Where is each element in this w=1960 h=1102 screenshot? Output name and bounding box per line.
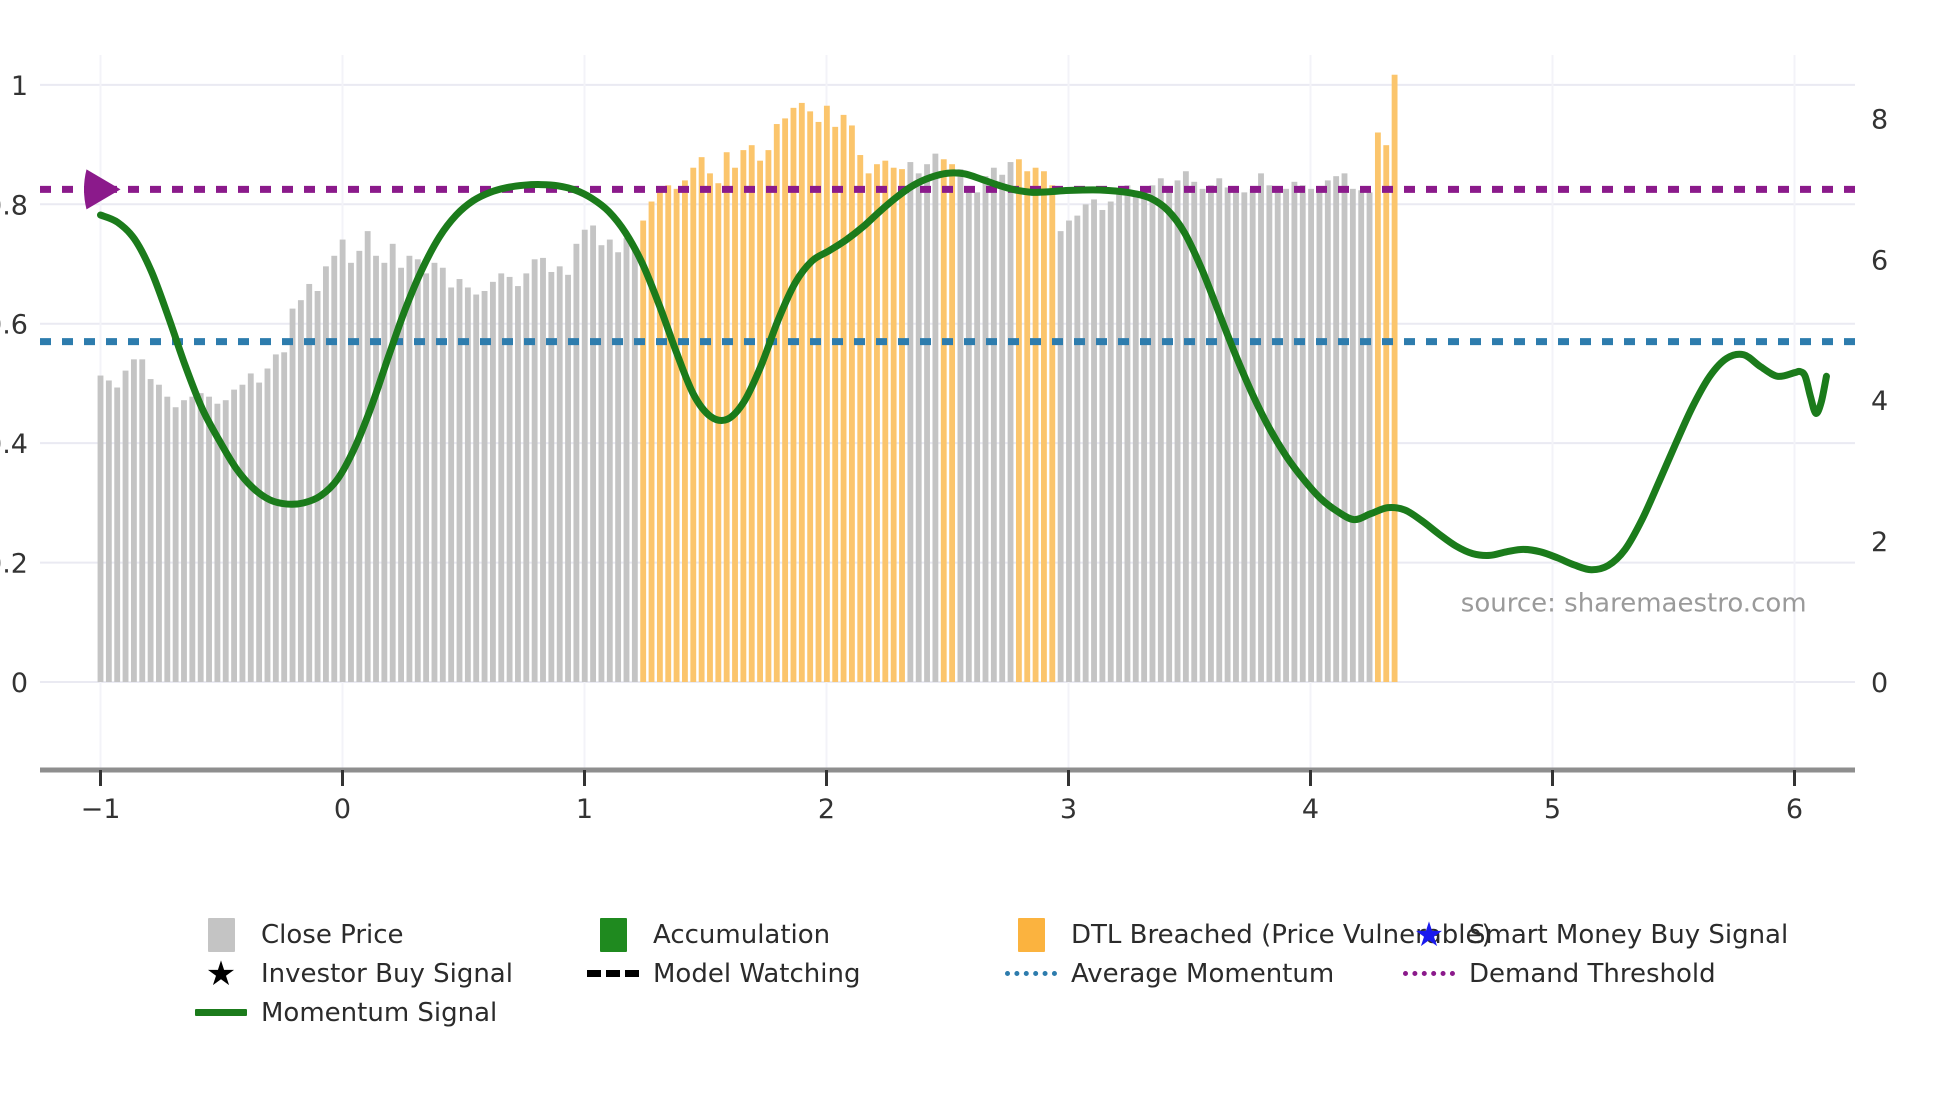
dtl-breached-bar (757, 161, 763, 682)
close-price-bar (290, 309, 296, 682)
close-price-bar (624, 238, 630, 682)
dtl-breached-bar (765, 150, 771, 682)
dtl-breached-bar (699, 157, 705, 682)
legend-item[interactable]: ★Investor Buy Signal (190, 954, 513, 993)
close-price-bar (1133, 196, 1139, 682)
chart-legend: Close PriceAccumulationDTL Breached (Pri… (0, 915, 1960, 1095)
close-price-bar (323, 266, 329, 682)
swatch-star: ★ (1414, 918, 1444, 952)
close-price-bar (156, 385, 162, 682)
close-price-bar (1300, 185, 1306, 682)
y-right-tick-label: 0 (1871, 668, 1888, 699)
close-price-bar (1083, 204, 1089, 682)
legend-label: Accumulation (644, 920, 830, 950)
dtl-breached-bar (891, 168, 897, 682)
close-price-bar (1074, 216, 1080, 682)
legend-item[interactable]: ★Smart Money Buy Signal (1398, 915, 1788, 954)
close-price-bar (532, 259, 538, 682)
accumulation-swatch (582, 918, 644, 952)
close-price-bar (1291, 182, 1297, 682)
close-price-bar (1350, 189, 1356, 682)
dtl-breached-bar (824, 106, 830, 682)
y-right-tick-label: 6 (1871, 245, 1888, 276)
close-price-bar (515, 286, 521, 682)
legend-label: Smart Money Buy Signal (1460, 920, 1788, 950)
legend-label: Investor Buy Signal (252, 959, 513, 989)
close-price-bar (114, 388, 120, 682)
close-price-bar (582, 230, 588, 682)
close-price-bar (565, 275, 571, 682)
dtl-breached-bar (690, 168, 696, 682)
x-tick-label: −1 (81, 794, 121, 825)
dtl-breached-bar (740, 150, 746, 682)
close-price-bar (1125, 185, 1131, 682)
close-price-bar (448, 287, 454, 682)
legend-item[interactable]: Momentum Signal (190, 993, 497, 1032)
close-price-bar (1066, 221, 1072, 682)
close-price-bar (498, 273, 504, 682)
close-price-bar (406, 256, 412, 682)
demand-threshold-dot-icon (1398, 971, 1460, 976)
chart-plot-area: −1012345600.20.40.60.8102468 source: sha… (0, 0, 1960, 880)
momentum-signal-line-icon (190, 1009, 252, 1016)
close-price-bar (1008, 162, 1014, 682)
close-price-bar (1141, 187, 1147, 682)
close-price-bar (523, 273, 529, 682)
x-tick-label: 0 (334, 794, 351, 825)
close-price-bar (1183, 171, 1189, 682)
legend-label: Close Price (252, 920, 404, 950)
close-price-bar (415, 259, 421, 682)
close-price-bar (465, 287, 471, 682)
swatch-square (1018, 918, 1045, 952)
close-price-bar (123, 371, 129, 682)
close-price-bars (98, 75, 1398, 682)
close-price-bar (1367, 192, 1373, 682)
close-price-bar (473, 295, 479, 682)
dtl-breached-bar (941, 159, 947, 682)
close-price-bar (1258, 173, 1264, 682)
close-price-bar (164, 397, 170, 682)
close-price-bar (924, 164, 930, 682)
close-price-bar (1158, 178, 1164, 682)
y-left-tick-label: 0.6 (0, 310, 28, 341)
x-tick-label: 3 (1060, 794, 1077, 825)
close-price-bar (1342, 173, 1348, 682)
x-tick-label: 6 (1786, 794, 1803, 825)
y-left-tick-label: 0 (11, 668, 28, 699)
close-price-bar (590, 225, 596, 682)
swatch-square (600, 918, 627, 952)
y-left-tick-label: 0.8 (0, 190, 28, 221)
close-price-bar (273, 354, 279, 682)
close-price-bar (1108, 202, 1114, 682)
y-right-tick-label: 2 (1871, 527, 1888, 558)
dtl-breached-bar (949, 164, 955, 682)
close-price-bar (999, 175, 1005, 682)
close-price-bar (348, 263, 354, 682)
dtl-breached-bar (1383, 145, 1389, 682)
swatch-square (208, 918, 235, 952)
close-price-bar (281, 352, 287, 682)
dtl-breached-swatch (1000, 918, 1062, 952)
smart-money-star-icon: ★ (1398, 918, 1460, 952)
legend-item[interactable]: Accumulation (582, 915, 830, 954)
close-price-bar (248, 373, 254, 682)
dtl-breached-bar (1033, 168, 1039, 682)
dtl-breached-bar (674, 189, 680, 682)
close-price-bar (1325, 180, 1331, 682)
close-price-bar (231, 390, 237, 682)
close-price-bar (198, 393, 204, 682)
close-price-bar (1216, 178, 1222, 682)
y-right-tick-label: 4 (1871, 386, 1888, 417)
y-right-tick-label: 8 (1871, 104, 1888, 135)
legend-row: Momentum Signal (95, 993, 1865, 1032)
swatch-star: ★ (206, 957, 236, 991)
close-price-bar (557, 266, 563, 682)
close-price-bar (615, 252, 621, 682)
close-price-bar (139, 359, 145, 682)
close-price-bar (373, 256, 379, 682)
close-price-bar (1358, 190, 1364, 682)
source-annotation: source: sharemaestro.com (1461, 589, 1807, 619)
y-left-tick-label: 0.2 (0, 549, 28, 580)
close-price-bar (482, 291, 488, 682)
dtl-breached-bar (774, 124, 780, 682)
dtl-breached-bar (749, 145, 755, 682)
close-price-bar (181, 400, 187, 682)
swatch-solid-line (195, 1009, 247, 1016)
threshold-lines (40, 189, 1855, 341)
close-price-bar (98, 376, 104, 682)
dtl-breached-bar (807, 111, 813, 682)
close-price-bar (440, 268, 446, 682)
close-price-bar (1091, 199, 1097, 682)
close-price-bar (365, 231, 371, 682)
close-price-bar (256, 383, 262, 682)
swatch-dashed-line (587, 970, 639, 977)
close-price-bar (1250, 189, 1256, 682)
close-price-bar (1317, 190, 1323, 682)
dtl-breached-bar (1016, 159, 1022, 682)
close-price-bar (1175, 180, 1181, 682)
dtl-breached-bar (874, 164, 880, 682)
close-price-bar (1099, 210, 1105, 682)
dtl-breached-bar (640, 221, 646, 682)
close-price-bar (958, 169, 964, 682)
dtl-breached-bar (1375, 132, 1381, 682)
legend-label: Momentum Signal (252, 998, 497, 1028)
close-price-bar (432, 263, 438, 682)
x-tick-label: 5 (1544, 794, 1561, 825)
dtl-breached-bar (682, 180, 688, 682)
close-price-bar (607, 240, 613, 682)
dtl-breached-bar (849, 125, 855, 682)
close-price-bar (206, 397, 212, 682)
close-price-bar (331, 256, 337, 682)
close-price-bar (1208, 185, 1214, 682)
close-price-bar (240, 385, 246, 682)
dtl-breached-bar (732, 168, 738, 682)
legend-item[interactable]: Average Momentum (1000, 954, 1334, 993)
close-price-bar (315, 291, 321, 682)
close-price-bar (1308, 189, 1314, 682)
swatch-dotted-line (1005, 971, 1057, 976)
legend-label: Demand Threshold (1460, 959, 1716, 989)
close-price-bar (423, 273, 429, 682)
average-momentum-dot-icon (1000, 971, 1062, 976)
dtl-breached-bar (816, 122, 822, 682)
legend-item[interactable]: Demand Threshold (1398, 954, 1716, 993)
close-price-bar (381, 263, 387, 682)
swatch-dotted-line (1403, 971, 1455, 976)
close-price-bar (390, 244, 396, 682)
close-price-bar (189, 397, 195, 682)
close-price-bar (265, 369, 271, 683)
close-price-bar (632, 247, 638, 682)
close-price-bar (1333, 176, 1339, 682)
legend-item[interactable]: Model Watching (582, 954, 860, 993)
close-price-bar (548, 272, 554, 682)
close-price-bar (983, 176, 989, 682)
close-price-bar (573, 244, 579, 682)
dtl-breached-bar (799, 103, 805, 682)
close-price-bar (974, 192, 980, 682)
dtl-breached-bar (841, 115, 847, 682)
investor-buy-star-icon: ★ (190, 957, 252, 991)
dtl-breached-bar (866, 173, 872, 682)
close-price-bar (356, 251, 362, 682)
legend-item[interactable]: Close Price (190, 915, 404, 954)
close-price-bar (1241, 192, 1247, 682)
dtl-breached-bar (1049, 185, 1055, 682)
close-price-bar (966, 187, 972, 682)
close-price-bar (540, 258, 546, 682)
legend-row: Close PriceAccumulationDTL Breached (Pri… (95, 915, 1865, 954)
close-price-bar (916, 173, 922, 682)
close-price-bar (907, 162, 913, 682)
close-price-bar (106, 380, 112, 682)
close-price-swatch (190, 918, 252, 952)
source-note: source: sharemaestro.com (1461, 589, 1807, 619)
close-price-bar (173, 407, 179, 682)
chart-page: −1012345600.20.40.60.8102468 source: sha… (0, 0, 1960, 1102)
close-price-bar (1116, 192, 1122, 682)
dtl-breached-bar (657, 190, 663, 682)
x-tick-label: 2 (818, 794, 835, 825)
dtl-breached-bar (1024, 171, 1030, 682)
close-price-bar (298, 300, 304, 682)
close-price-bar (131, 359, 137, 682)
dtl-breached-bar (707, 173, 713, 682)
y-left-tick-label: 1 (11, 71, 28, 102)
dtl-breached-bar (715, 183, 721, 682)
close-price-bar (599, 245, 605, 682)
close-price-bar (1166, 187, 1172, 682)
dtl-breached-bar (665, 185, 671, 682)
legend-row: ★Investor Buy SignalModel WatchingAverag… (95, 954, 1865, 993)
dtl-breached-bar (899, 169, 905, 682)
close-price-bar (1225, 187, 1231, 682)
grid-lines (40, 55, 1855, 770)
close-price-bar (1058, 231, 1064, 682)
model-watching-dash-icon (582, 970, 644, 977)
dtl-breached-bar (1041, 171, 1047, 682)
close-price-bar (148, 379, 154, 682)
legend-label: Average Momentum (1062, 959, 1334, 989)
dtl-breached-bar (791, 108, 797, 682)
dtl-breached-bar (882, 161, 888, 682)
dtl-breached-bar (782, 118, 788, 682)
y-left-tick-label: 0.4 (0, 429, 28, 460)
dtl-breached-bar (1392, 75, 1398, 682)
x-tick-label: 1 (576, 794, 593, 825)
legend-label: Model Watching (644, 959, 860, 989)
close-price-bar (1150, 185, 1156, 682)
dtl-breached-bar (832, 127, 838, 682)
close-price-bar (1233, 189, 1239, 682)
close-price-bar (1283, 189, 1289, 682)
close-price-bar (991, 168, 997, 682)
close-price-bar (507, 277, 513, 682)
close-price-bar (932, 154, 938, 682)
x-tick-label: 4 (1302, 794, 1319, 825)
